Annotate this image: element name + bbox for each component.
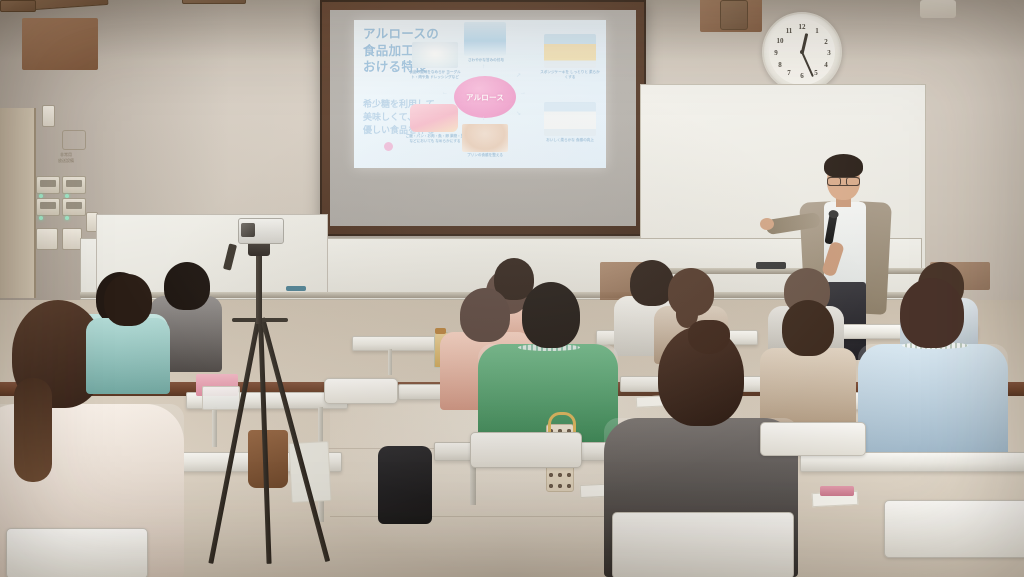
panel-button-2[interactable] bbox=[62, 176, 86, 194]
attendee-bun bbox=[688, 320, 730, 354]
arrow-upright-icon: ↗ bbox=[516, 72, 521, 79]
caption-right-lower: おいしく柔らかな 食感の向上 bbox=[540, 138, 600, 143]
caption-top-center: さわやかな甘みの付与 bbox=[458, 58, 514, 63]
wood-plaque-upper-left bbox=[22, 18, 98, 70]
arrow-right-icon: → bbox=[520, 90, 526, 96]
slide-title-line-1: アルロースの bbox=[363, 26, 473, 43]
camera-tripod[interactable] bbox=[212, 222, 316, 562]
caption-left-text: 食品の風味をなめらか ヨーグルト・肉や魚 ドレッシングなど bbox=[409, 70, 460, 79]
lecture-hall-photo: 非常用 放送設備 アルロースの 食品加工に おける特長 希少糖を利用して 美味し… bbox=[0, 0, 1024, 577]
wall-speaker-far-left bbox=[0, 0, 36, 12]
arrow-left-icon: ← bbox=[442, 90, 448, 96]
clock-numeral-12: 12 bbox=[797, 23, 807, 31]
chair-mid-right[interactable] bbox=[760, 422, 866, 456]
tripod-center-column bbox=[256, 250, 262, 324]
panel-sign-line1: 非常用 bbox=[60, 152, 72, 157]
arrow-upleft-icon: ↖ bbox=[446, 72, 451, 79]
presenter-hair bbox=[824, 154, 863, 178]
ceiling-light-fixture bbox=[920, 0, 956, 18]
projection-screen: アルロースの 食品加工に おける特長 希少糖を利用して 美味しくて、身体に 優し… bbox=[320, 0, 646, 236]
panel-button-1[interactable] bbox=[36, 176, 60, 194]
projected-slide: アルロースの 食品加工に おける特長 希少糖を利用して 美味しくて、身体に 優し… bbox=[354, 20, 606, 168]
chair-back-left[interactable] bbox=[324, 378, 398, 404]
photo-fruit bbox=[410, 104, 458, 132]
panel-sign-label: 非常用 放送設備 bbox=[36, 152, 96, 164]
clock-numeral-2: 2 bbox=[821, 38, 831, 46]
tripod-leg-left bbox=[208, 318, 261, 564]
backpack-on-floor[interactable] bbox=[378, 446, 432, 524]
arrow-down-icon: ↓ bbox=[482, 116, 485, 122]
chair-front-left[interactable] bbox=[6, 528, 148, 577]
wall-outlet-right[interactable] bbox=[62, 228, 82, 250]
tripod-pan-handle[interactable] bbox=[223, 243, 237, 270]
attendee-ponytail bbox=[14, 378, 52, 482]
clock-numeral-9: 9 bbox=[771, 49, 781, 57]
attendee-far-left-edge bbox=[86, 274, 170, 394]
emergency-broadcast-sign bbox=[62, 130, 86, 150]
ceiling-speaker-right bbox=[720, 0, 748, 30]
photo-mochi bbox=[544, 102, 596, 136]
clock-numeral-4: 4 bbox=[821, 61, 831, 69]
attendee-lightblue bbox=[858, 278, 1008, 458]
allulose-center-label: アルロース bbox=[454, 76, 516, 118]
photo-beverage-glass bbox=[464, 22, 506, 56]
video-camera[interactable] bbox=[238, 218, 284, 244]
bottle-holder-handle bbox=[548, 412, 576, 433]
clock-numeral-8: 8 bbox=[775, 61, 785, 69]
arrow-downright-icon: ↘ bbox=[516, 110, 521, 117]
ceiling-speaker-center bbox=[182, 0, 246, 4]
caption-left: 食品の風味をなめらか ヨーグルト・肉や魚 ドレッシングなど bbox=[406, 70, 464, 80]
panel-button-3[interactable] bbox=[36, 198, 60, 216]
chair-front-right[interactable] bbox=[884, 500, 1024, 558]
photo-dressing-fish bbox=[412, 42, 458, 68]
caption-right-upper: スポンジケーキを しっとりと 柔らかくする bbox=[540, 70, 600, 80]
chair-front-center[interactable] bbox=[612, 512, 794, 577]
photo-pudding bbox=[462, 124, 508, 152]
wall-outlet-left[interactable] bbox=[36, 228, 58, 250]
attendee-hair bbox=[104, 274, 152, 326]
camera-lens-icon bbox=[241, 223, 255, 237]
presenter-pointing-hand bbox=[760, 218, 774, 230]
desk-leg-back-1 bbox=[388, 349, 392, 375]
clock-center-pin bbox=[800, 50, 804, 54]
clock-numeral-10: 10 bbox=[775, 37, 785, 45]
panel-led-3 bbox=[39, 216, 43, 220]
allulose-text: アルロース bbox=[466, 92, 504, 103]
caption-bottom-center: プリンの食感を整える bbox=[456, 153, 514, 158]
screen-surface: アルロースの 食品加工に おける特長 希少糖を利用して 美味しくて、身体に 優し… bbox=[330, 10, 636, 226]
panel-led-4 bbox=[65, 216, 69, 220]
panel-sign-line2: 放送設備 bbox=[58, 158, 74, 163]
panel-button-4[interactable] bbox=[62, 198, 86, 216]
clock-numeral-3: 3 bbox=[824, 49, 834, 57]
light-switch-top[interactable] bbox=[42, 105, 55, 127]
photo-sponge-cake bbox=[544, 34, 596, 68]
wall-clock: 12 1 2 3 4 5 6 7 8 9 10 11 bbox=[762, 12, 842, 92]
attendee-body bbox=[86, 318, 170, 394]
clock-numeral-7: 7 bbox=[784, 69, 794, 77]
pink-booklet[interactable] bbox=[820, 486, 854, 496]
attendee-hair bbox=[900, 278, 964, 348]
clock-numeral-11: 11 bbox=[784, 27, 794, 35]
slide-decor-dot bbox=[384, 142, 393, 151]
attendee-body bbox=[858, 344, 1008, 458]
door-frame[interactable] bbox=[0, 108, 36, 298]
caption-lower-left: ご飯・パン・お肉・魚・卵 果物・豆 などにおいても なめらかにする bbox=[404, 134, 466, 144]
presenter-glasses bbox=[828, 177, 859, 186]
arrow-up-icon: ↑ bbox=[482, 64, 485, 70]
clock-numeral-6: 6 bbox=[797, 72, 807, 80]
attendee-hair bbox=[522, 282, 580, 348]
chair-mid-center[interactable] bbox=[470, 432, 582, 468]
clock-numeral-1: 1 bbox=[812, 27, 822, 35]
